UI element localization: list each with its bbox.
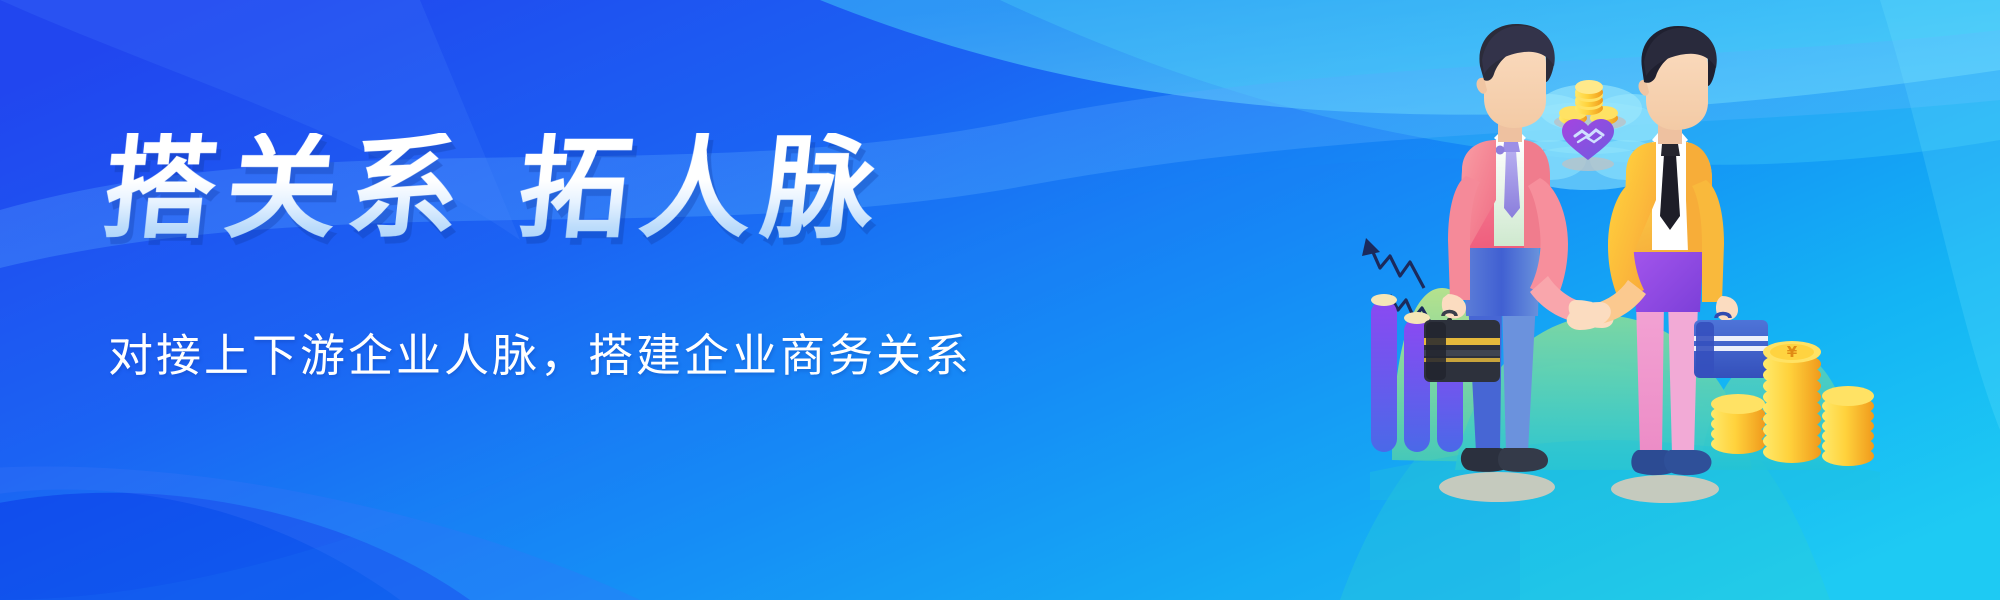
promo-banner: 搭关系 拓人脉 对接上下游企业人脉，搭建企业商务关系 [0, 0, 2000, 600]
background-artwork [0, 0, 2000, 600]
